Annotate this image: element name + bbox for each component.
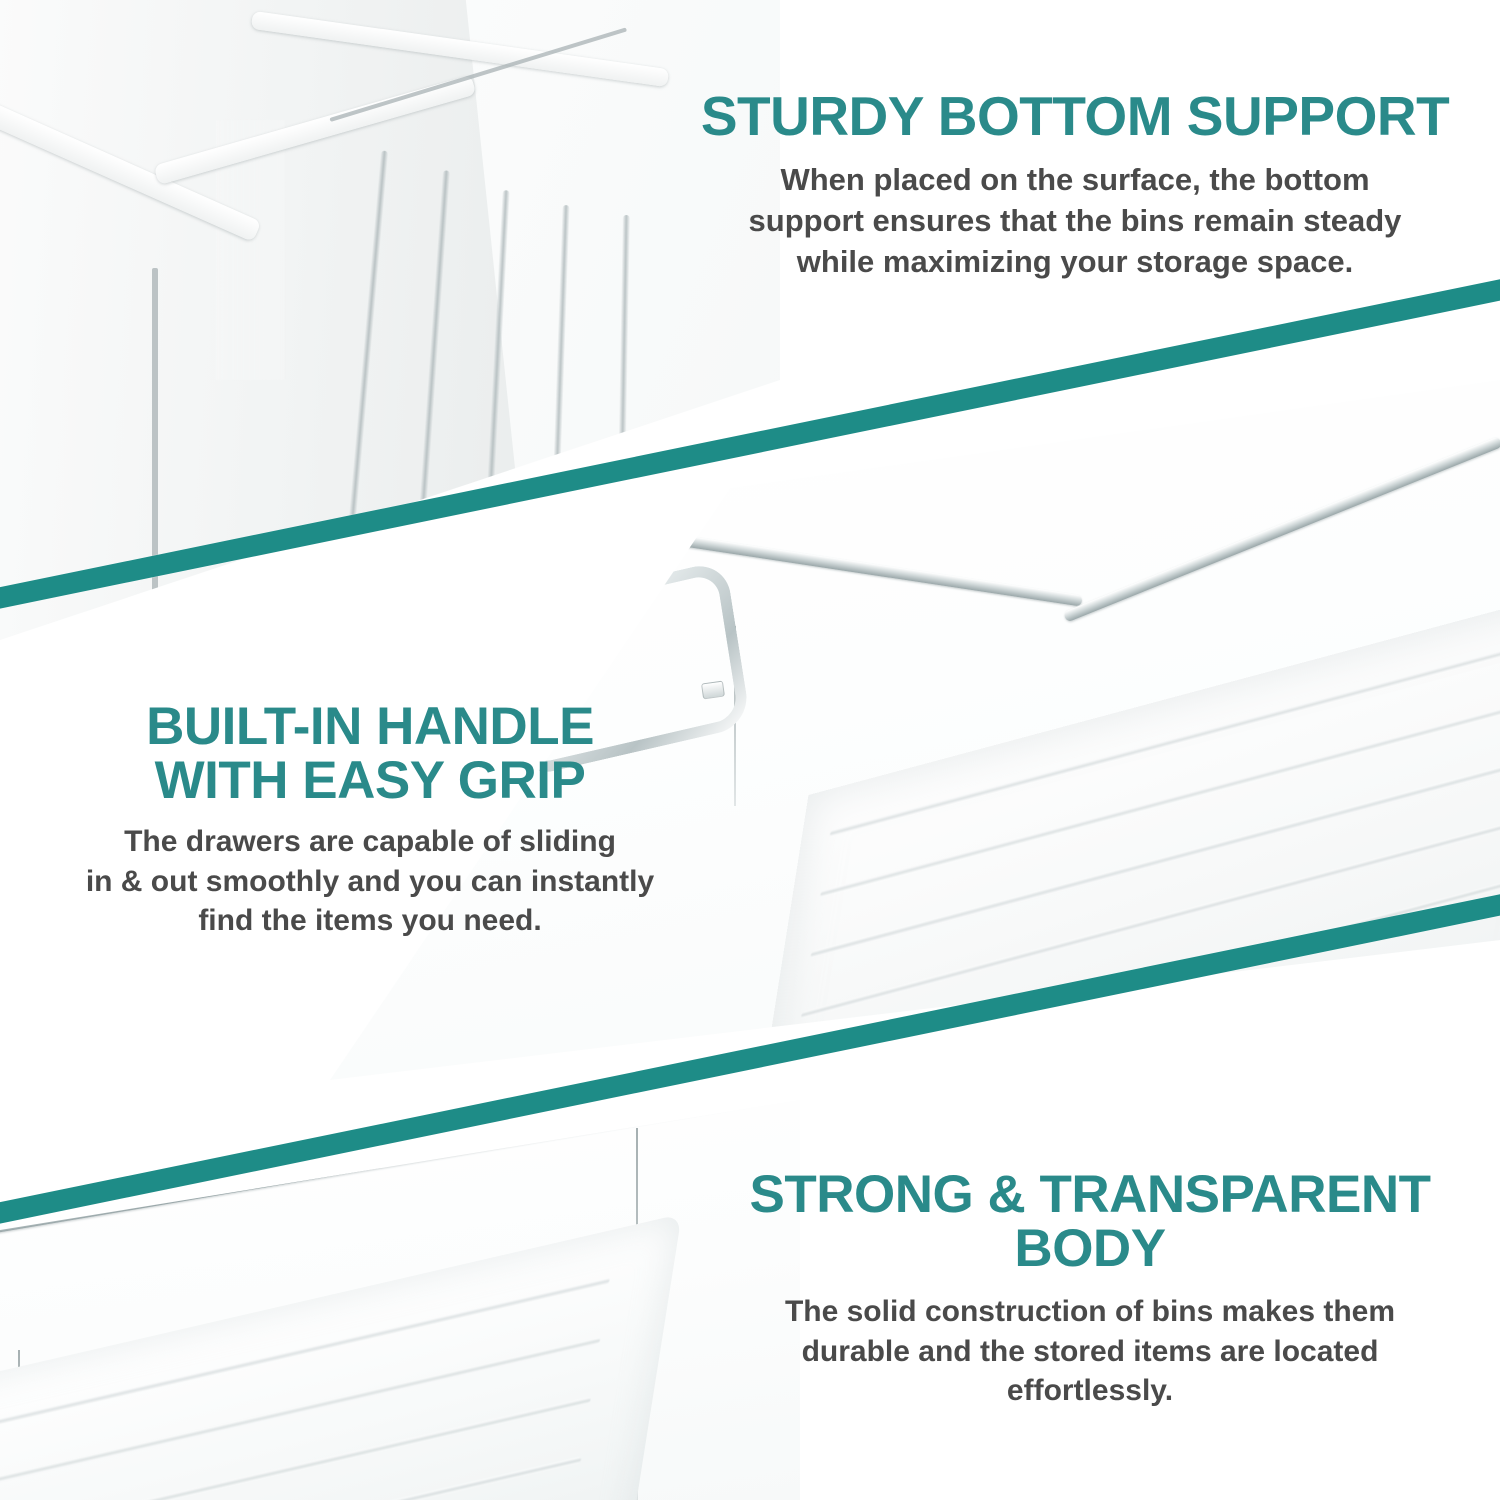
floor-rib bbox=[0, 1457, 582, 1500]
bin-vertical-seam bbox=[152, 268, 158, 598]
bin-clip-tab bbox=[701, 681, 725, 700]
feature-block-strong-transparent-body: STRONG & TRANSPARENT BODY The solid cons… bbox=[690, 1168, 1490, 1411]
bin-rib bbox=[549, 205, 569, 585]
feature-headline-strong-transparent-body: STRONG & TRANSPARENT BODY bbox=[690, 1168, 1490, 1276]
feature-description-sturdy-bottom-support: When placed on the surface, the bottom s… bbox=[660, 160, 1490, 283]
feature-headline-sturdy-bottom-support: STURDY BOTTOM SUPPORT bbox=[660, 88, 1490, 144]
feature-block-sturdy-bottom-support: STURDY BOTTOM SUPPORT When placed on the… bbox=[660, 88, 1490, 283]
feature-description-built-in-handle: The drawers are capable of sliding in & … bbox=[60, 822, 680, 941]
feature-block-built-in-handle: BUILT-IN HANDLE WITH EASY GRIP The drawe… bbox=[60, 700, 680, 941]
bin-rib bbox=[617, 215, 630, 545]
bin-clip-tab bbox=[421, 555, 445, 574]
floor-rib bbox=[782, 942, 1498, 1080]
floor-rib bbox=[762, 1063, 1478, 1080]
infographic-canvas: STURDY BOTTOM SUPPORT When placed on the… bbox=[0, 0, 1500, 1500]
feature-headline-built-in-handle: BUILT-IN HANDLE WITH EASY GRIP bbox=[60, 700, 680, 808]
product-photo-strong-transparent-body bbox=[0, 1100, 800, 1500]
feature-description-strong-transparent-body: The solid construction of bins makes the… bbox=[690, 1292, 1490, 1411]
